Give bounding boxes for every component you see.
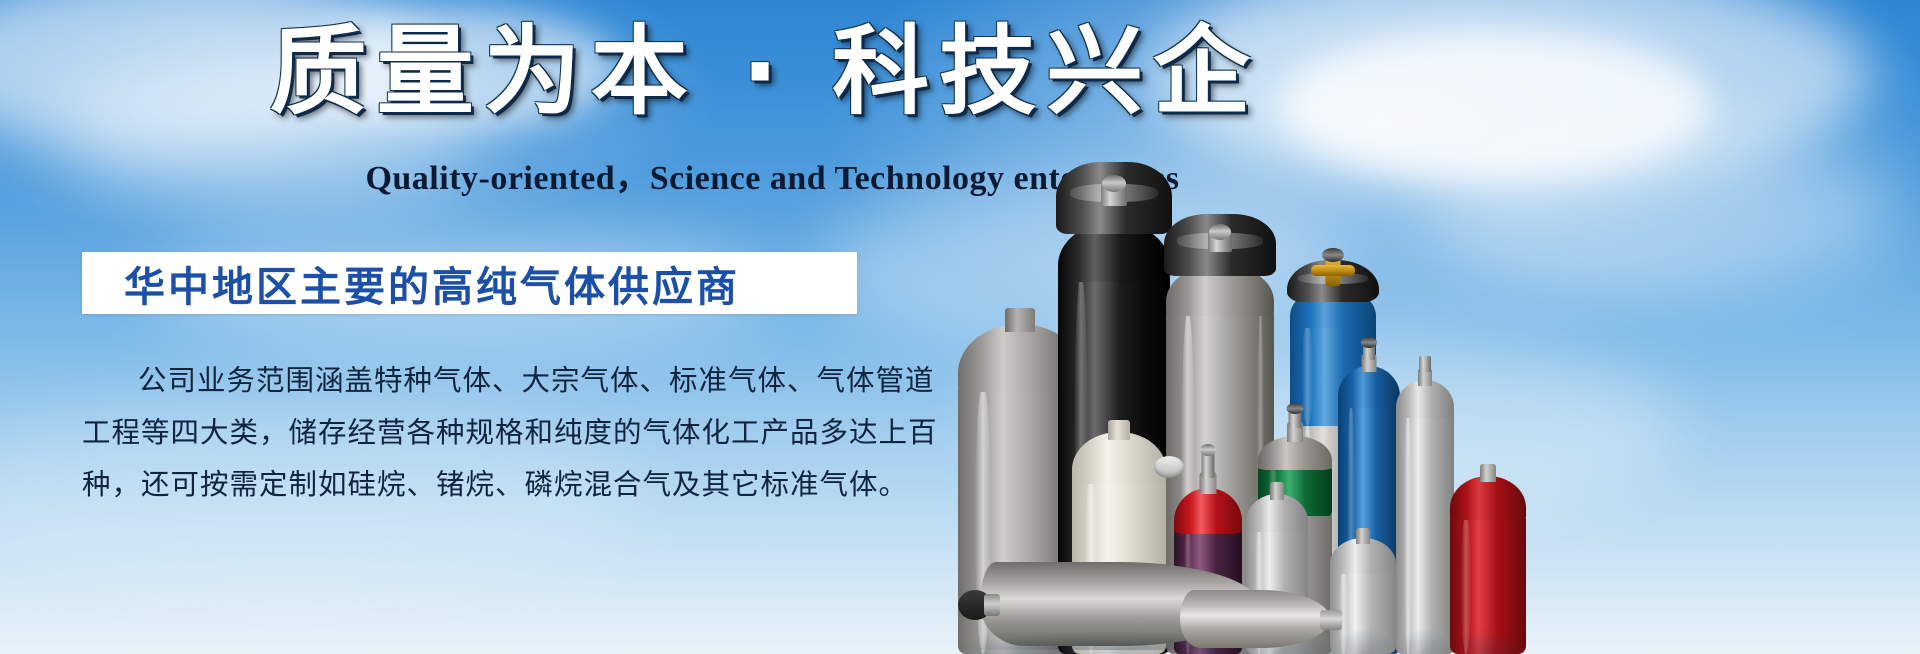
gas-cylinder-lying-small: [1180, 590, 1340, 650]
description-paragraph: 公司业务范围涵盖特种气体、大宗气体、标准气体、气体管道 工程等四大类，储存经营各…: [82, 355, 872, 511]
gas-cylinder-group: [930, 0, 1920, 654]
valve-handwheel: [1154, 456, 1184, 478]
slogan-box: 华中地区主要的高纯气体供应商: [82, 252, 857, 314]
slogan-text: 华中地区主要的高纯气体供应商: [124, 253, 740, 313]
paragraph-line: 种，还可按需定制如硅烷、锗烷、磷烷混合气及其它标准气体。: [82, 459, 872, 511]
hero-banner: 质量为本 · 科技兴企 Quality-oriented，Science and…: [0, 0, 1920, 654]
paragraph-line: 工程等四大类，储存经营各种规格和纯度的气体化工产品多达上百: [82, 407, 872, 459]
gas-cylinder-silver-tall: [1396, 354, 1454, 654]
paragraph-line: 公司业务范围涵盖特种气体、大宗气体、标准气体、气体管道: [82, 355, 872, 407]
gas-cylinder-red: [1450, 464, 1526, 654]
